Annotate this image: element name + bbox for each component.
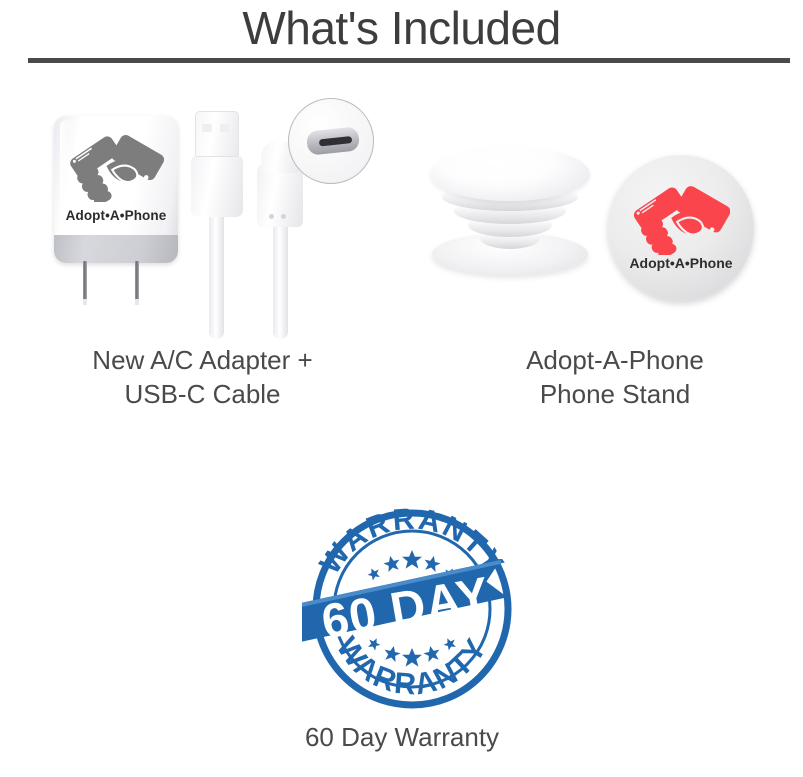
page-header: What's Included <box>0 0 803 72</box>
adapter-brand-text: Adopt•A•Phone <box>54 208 178 223</box>
usb-a-housing <box>191 155 243 217</box>
usb-c-closeup-inset <box>288 98 374 184</box>
caption-phone-stand: Adopt-A-Phone Phone Stand <box>475 343 755 411</box>
adapter-body: Adopt•A•Phone <box>54 116 178 263</box>
adapter-gray-band <box>54 235 178 263</box>
usb-c-housing <box>257 165 303 227</box>
cable-cord-right <box>273 221 288 339</box>
caption-charger: New A/C Adapter + USB-C Cable <box>30 343 375 411</box>
disc-brand-text: Adopt•A•Phone <box>608 255 754 271</box>
caption-stand-line2: Phone Stand <box>475 377 755 411</box>
caption-warranty: 60 Day Warranty <box>262 720 542 754</box>
handshake-icon <box>632 183 730 255</box>
adapter-prong-left <box>83 261 87 305</box>
warranty-badge-image: WARRANTY WARRANTY 60 DAY <box>302 506 522 712</box>
adapter-prong-right <box>135 261 139 305</box>
caption-charger-line2: USB-C Cable <box>30 377 375 411</box>
title-divider <box>28 58 790 63</box>
stand-top-cap <box>430 147 590 201</box>
phone-stand-image <box>420 145 610 295</box>
usb-a-connector <box>195 111 239 157</box>
usb-c-cable-image <box>185 95 385 340</box>
usb-c-plug-detail <box>306 126 360 155</box>
page-title: What's Included <box>0 2 803 54</box>
caption-stand-line1: Adopt-A-Phone <box>475 343 755 377</box>
handshake-icon <box>68 132 164 202</box>
caption-warranty-line1: 60 Day Warranty <box>262 720 542 754</box>
cable-cord-left <box>209 207 224 339</box>
caption-charger-line1: New A/C Adapter + <box>30 343 375 377</box>
disc-body: Adopt•A•Phone <box>608 155 754 301</box>
phone-stand-logo-disc-image: Adopt•A•Phone <box>608 155 758 305</box>
